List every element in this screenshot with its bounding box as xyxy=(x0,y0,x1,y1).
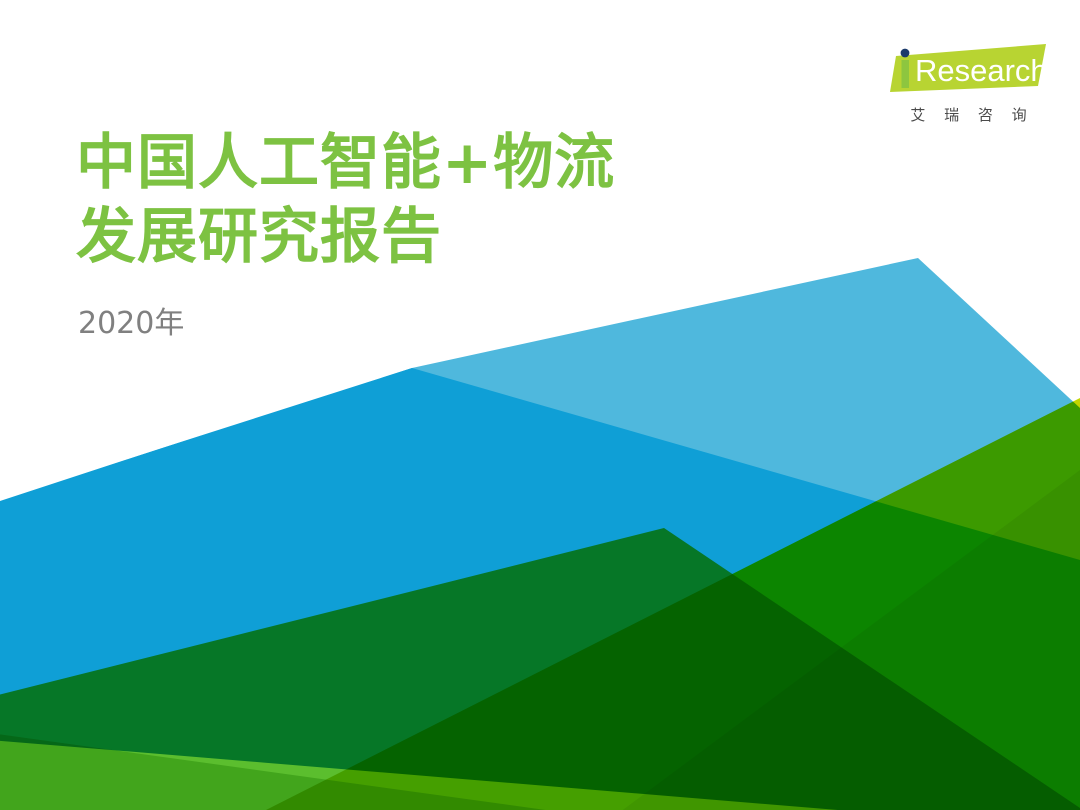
report-cover-slide: Research 艾 瑞 咨 询 中国人工智能+物流 发展研究报告 2020年 xyxy=(0,0,1080,810)
report-year: 2020年 xyxy=(78,298,184,342)
page-title: 中国人工智能+物流 发展研究报告 xyxy=(76,126,615,274)
title-line-1: 中国人工智能+物流 xyxy=(76,128,615,198)
iresearch-logo-mark: Research xyxy=(888,40,1048,98)
iresearch-logo: Research 艾 瑞 咨 询 xyxy=(888,40,1048,135)
title-line-2: 发展研究报告 xyxy=(76,200,615,274)
logo-i-dot-icon xyxy=(901,49,910,58)
logo-wordmark: Research xyxy=(915,53,1048,88)
logo-subtitle: 艾 瑞 咨 询 xyxy=(888,104,1048,125)
logo-i-stem-icon xyxy=(902,60,910,88)
